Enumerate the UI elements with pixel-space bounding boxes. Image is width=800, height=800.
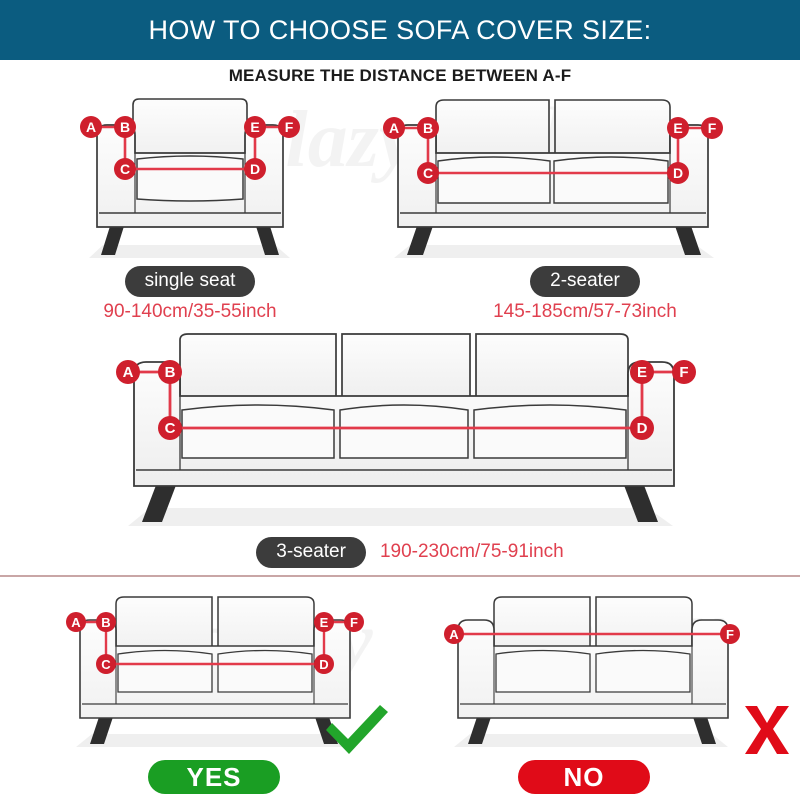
no-badge: NO [518,760,650,794]
yes-badge: YES [148,760,280,794]
svg-text:D: D [673,165,683,181]
svg-text:E: E [250,119,259,135]
three-seater-label: 3-seater [256,537,366,568]
svg-text:E: E [673,120,682,136]
svg-text:C: C [120,161,130,177]
single-seat-caption: single seat 90-140cm/35-55inch [45,266,335,324]
svg-text:E: E [637,364,647,381]
subtitle: MEASURE THE DISTANCE BETWEEN A-F [0,66,800,86]
svg-text:F: F [726,627,734,642]
svg-text:F: F [350,615,358,630]
svg-text:E: E [320,615,329,630]
check-mark-icon [322,703,392,758]
svg-text:A: A [389,120,399,136]
cross-mark-icon [742,704,792,756]
svg-text:B: B [101,615,110,630]
svg-text:A: A [123,364,134,381]
svg-text:A: A [86,119,96,135]
svg-text:C: C [165,420,176,437]
svg-text:D: D [250,161,260,177]
infographic-page: HOW TO CHOOSE SOFA COVER SIZE: MEASURE T… [0,0,800,800]
two-seater-label: 2-seater [530,266,640,297]
section-divider [0,575,800,577]
three-seater-caption: 3-seater 190-230cm/75-91inch [200,537,620,568]
svg-text:F: F [708,120,717,136]
svg-text:B: B [423,120,433,136]
svg-text:B: B [120,119,130,135]
svg-text:C: C [101,657,111,672]
single-seat-label: single seat [125,266,256,297]
incorrect-measurement-diagram: A F [440,592,750,757]
svg-text:D: D [637,420,648,437]
page-header: HOW TO CHOOSE SOFA COVER SIZE: [0,0,800,60]
single-seat-dimensions: 90-140cm/35-55inch [45,301,335,324]
svg-text:B: B [165,364,176,381]
single-seat-diagram: A B C D E F [75,95,305,265]
two-seater-dimensions: 145-185cm/57-73inch [420,301,750,324]
svg-text:F: F [679,364,688,381]
svg-text:C: C [423,165,433,181]
two-seater-diagram: A B C D E F [378,95,733,265]
svg-text:D: D [319,657,328,672]
svg-text:F: F [285,119,294,135]
three-seater-diagram: A B C D E F [108,330,708,535]
svg-text:A: A [449,627,459,642]
page-title: HOW TO CHOOSE SOFA COVER SIZE: [148,15,651,46]
svg-text:A: A [71,615,81,630]
three-seater-dimensions: 190-230cm/75-91inch [380,541,564,564]
two-seater-caption: 2-seater 145-185cm/57-73inch [420,266,750,324]
